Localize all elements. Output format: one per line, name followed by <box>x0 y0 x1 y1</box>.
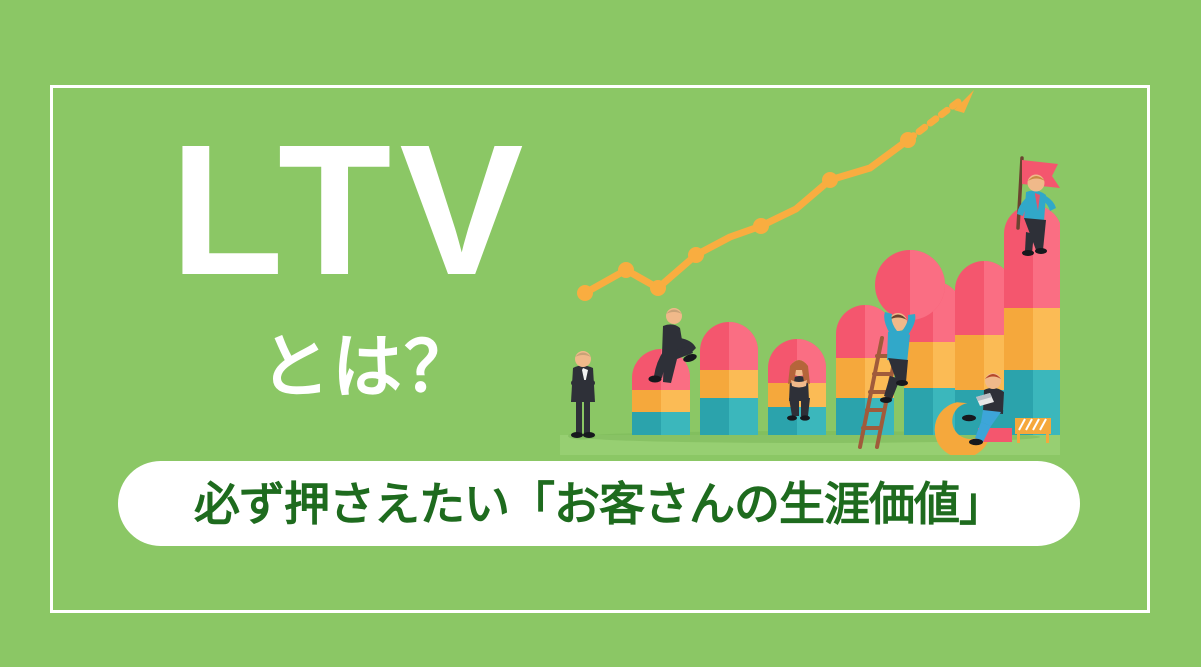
subtitle-pill: 必ず押さえたい「お客さんの生涯価値」 <box>118 461 1080 546</box>
standing-businessman <box>568 351 596 440</box>
page-title: LTV <box>170 118 532 304</box>
pink-ball <box>875 250 945 320</box>
page-subtitle-small: とは？ <box>260 332 476 402</box>
climbing-businessman <box>649 308 698 383</box>
poster-canvas: LTV とは？ 必ず押さえたい「お客さんの生涯価値」 <box>0 0 1201 667</box>
trend-line-nodes <box>577 132 916 301</box>
bar-2 <box>700 322 758 435</box>
subtitle-pill-label: 必ず押さえたい「お客さんの生涯価値」 <box>194 481 1004 527</box>
growth-chart-illustration <box>560 80 1060 455</box>
